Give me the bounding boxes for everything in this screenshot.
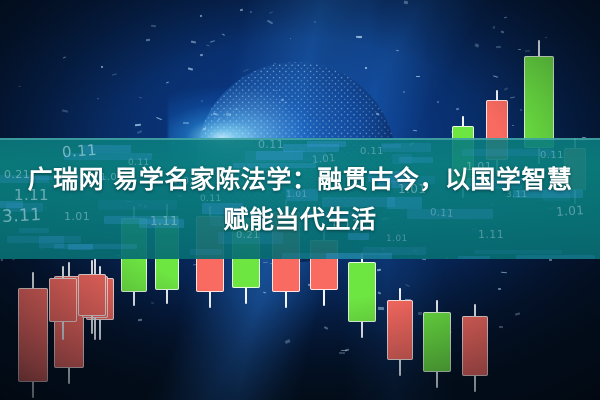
banner-headline: 广瑞网 易学名家陈法学：融贯古今，以国学智慧 赋能当代生活: [0, 160, 600, 240]
band-number: 0.11: [360, 146, 384, 157]
band-number: 0.11: [61, 141, 97, 161]
band-bar: [307, 141, 346, 147]
candlestick-body: [78, 274, 106, 316]
candlestick-down: [387, 288, 413, 376]
article-banner: 0.110.211.011.113.111.010.111.010.111.11…: [0, 0, 600, 400]
candlestick-body: [18, 288, 48, 382]
candlestick-body: [524, 56, 554, 148]
candlestick-body: [348, 262, 376, 322]
candlestick-body: [49, 278, 77, 322]
band-bar: [458, 256, 490, 259]
candlestick-body: [462, 316, 488, 376]
band-bar: [474, 250, 562, 254]
candlestick-body: [387, 300, 413, 360]
band-bar: [363, 247, 426, 255]
band-top-edge: [0, 138, 600, 140]
candlestick-down: [78, 260, 106, 334]
candlestick-body: [423, 312, 451, 372]
candlestick-up: [423, 300, 451, 388]
headline-line-2: 赋能当代生活: [0, 200, 600, 240]
band-bar: [382, 143, 431, 152]
candlestick-down: [18, 272, 48, 398]
band-number: 0.11: [258, 138, 284, 151]
candlestick-up: [348, 252, 376, 338]
band-bar: [282, 253, 363, 259]
candlestick-down: [49, 266, 77, 340]
band-bar: [54, 244, 137, 249]
headline-line-1: 广瑞网 易学名家陈法学：融贯古今，以国学智慧: [28, 165, 573, 194]
band-bar: [516, 255, 595, 259]
candlestick-down: [462, 304, 488, 392]
band-bar: [190, 249, 222, 255]
